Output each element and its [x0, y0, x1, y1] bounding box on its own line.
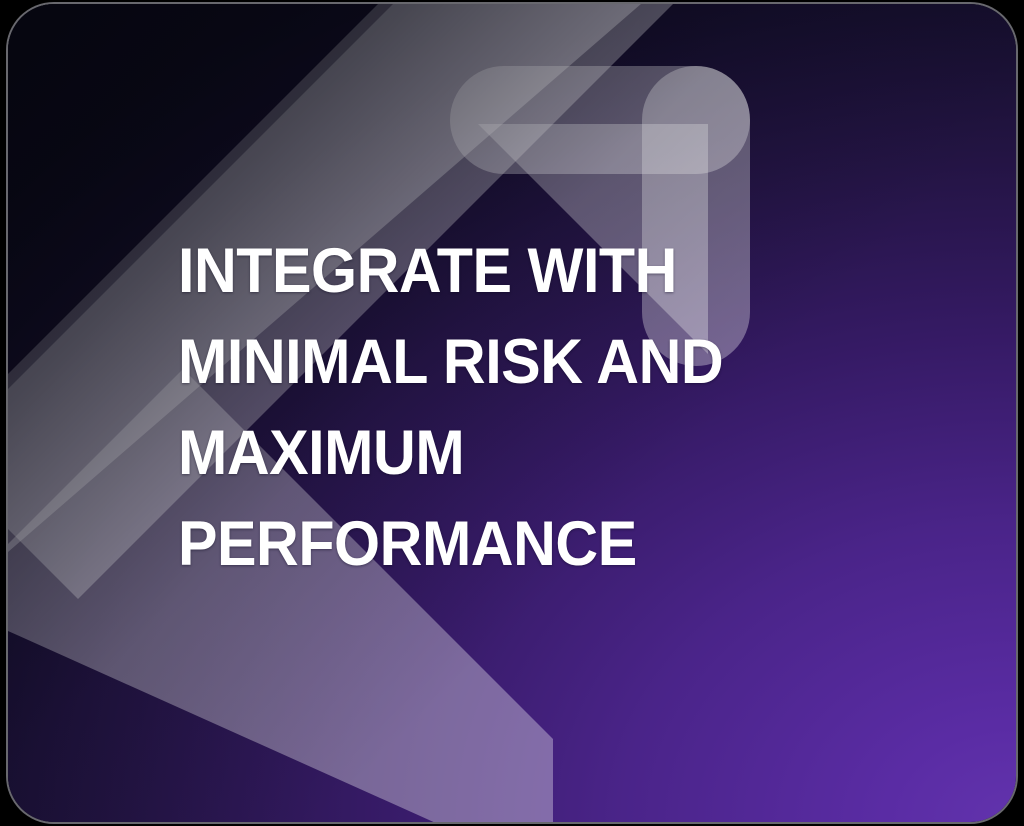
headline-line-2: MINIMAL RISK AND [178, 317, 855, 408]
headline-line-1: INTEGRATE WITH [178, 226, 855, 317]
arrow-head-top-bar [450, 66, 750, 174]
promo-card: INTEGRATE WITH MINIMAL RISK AND MAXIMUM … [8, 4, 1016, 822]
headline-line-4: PERFORMANCE [178, 499, 855, 590]
promo-headline: INTEGRATE WITH MINIMAL RISK AND MAXIMUM … [178, 226, 898, 590]
headline-line-3: MAXIMUM [178, 408, 855, 499]
screenshot-stage: INTEGRATE WITH MINIMAL RISK AND MAXIMUM … [0, 0, 1024, 826]
